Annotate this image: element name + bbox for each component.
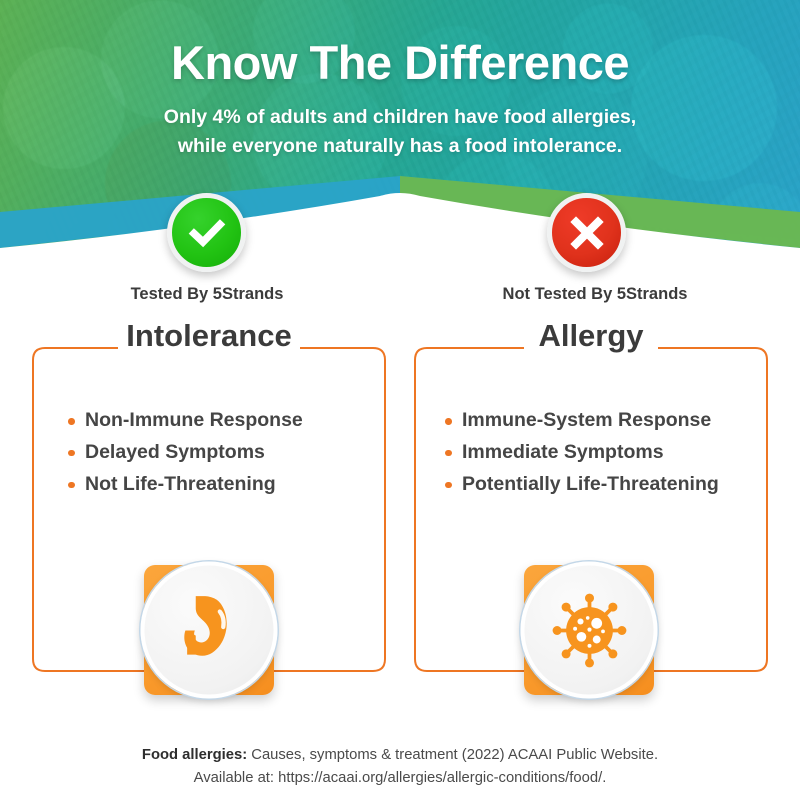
page-title: Know The Difference: [0, 38, 800, 87]
cross-icon: [568, 214, 606, 252]
citation-line-2: Available at: https://acaai.org/allergie…: [0, 767, 800, 790]
list-item: Non-Immune Response: [68, 405, 386, 437]
allergy-bullet-list: Immune-System Response Immediate Symptom…: [414, 405, 768, 500]
header-subtitle-line-2: while everyone naturally has a food into…: [0, 132, 800, 160]
list-item: Not Life-Threatening: [68, 469, 386, 501]
header-subtitle: Only 4% of adults and children have food…: [0, 103, 800, 160]
intolerance-card-title: Intolerance: [32, 318, 386, 354]
intolerance-bullet-list: Non-Immune Response Delayed Symptoms Not…: [32, 405, 386, 500]
tested-badge-label: Tested By 5Strands: [17, 285, 397, 304]
header-text-block: Know The Difference Only 4% of adults an…: [0, 0, 800, 160]
citation-line-1: Food allergies: Causes, symptoms & treat…: [0, 744, 800, 767]
intolerance-icon-disc: [141, 562, 278, 699]
header-subtitle-line-1: Only 4% of adults and children have food…: [0, 103, 800, 131]
list-item: Immune-System Response: [445, 405, 768, 437]
intolerance-icon-tile: [144, 565, 274, 695]
not-tested-badge: [547, 193, 626, 272]
allergy-icon-disc: [521, 562, 658, 699]
list-item: Potentially Life-Threatening: [445, 469, 768, 501]
stomach-icon: [166, 587, 252, 673]
list-item: Delayed Symptoms: [68, 437, 386, 469]
header-banner: Know The Difference Only 4% of adults an…: [0, 0, 800, 270]
footer-citation: Food allergies: Causes, symptoms & treat…: [0, 744, 800, 790]
allergy-icon-tile: [524, 565, 654, 695]
citation-source-title: Food allergies:: [142, 747, 247, 763]
tested-badge: [167, 193, 246, 272]
allergy-card-title: Allergy: [414, 318, 768, 354]
check-icon: [187, 213, 227, 253]
virus-icon: [544, 585, 634, 675]
citation-source-rest: Causes, symptoms & treatment (2022) ACAA…: [247, 747, 658, 763]
not-tested-badge-label: Not Tested By 5Strands: [405, 285, 785, 304]
list-item: Immediate Symptoms: [445, 437, 768, 469]
infographic-root: Know The Difference Only 4% of adults an…: [0, 0, 800, 800]
